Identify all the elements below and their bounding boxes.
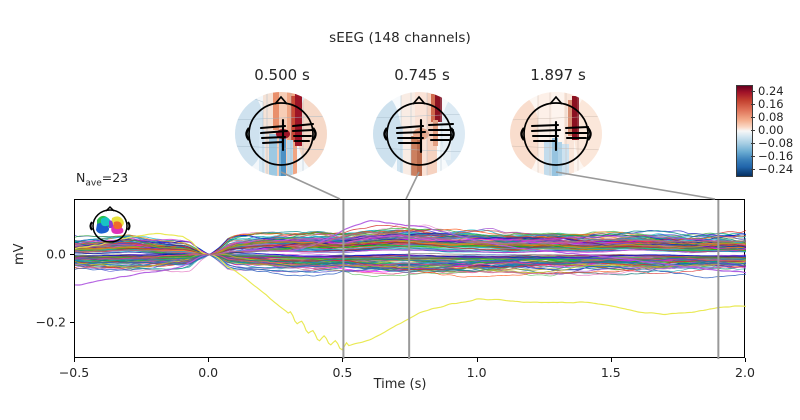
- y-axis-title: mV: [12, 243, 27, 265]
- y-tick-label-0: 0.0: [22, 246, 66, 261]
- x-axis-title: Time (s): [0, 377, 800, 392]
- y-tick-1: [70, 322, 74, 323]
- y-tick-label-1: −0.2: [22, 315, 66, 330]
- y-axis-ticks: 0.0−0.2: [0, 0, 800, 420]
- figure-canvas: sEEG (148 channels) 0.500 s 0.745 s 1.89…: [0, 0, 800, 420]
- y-tick-0: [70, 254, 74, 255]
